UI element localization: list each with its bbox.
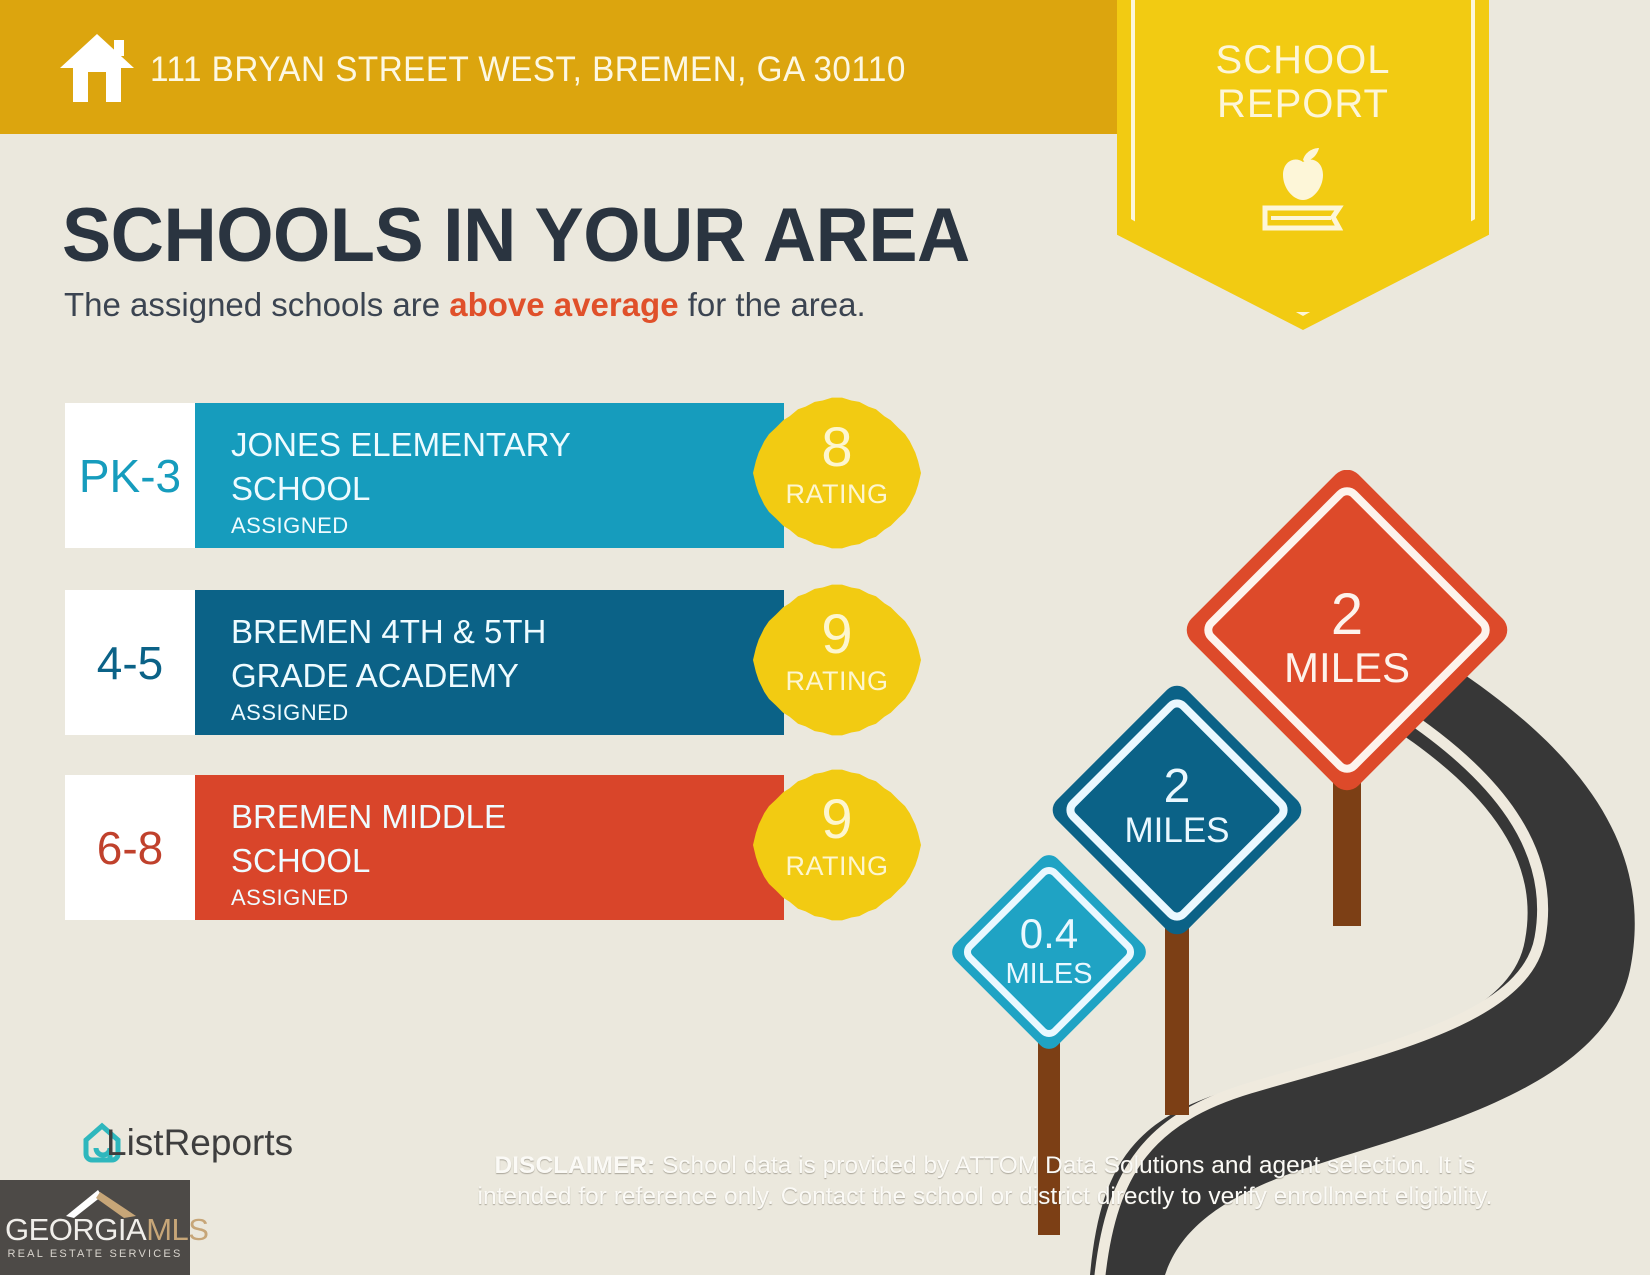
rating-badge: 9 RATING	[753, 755, 921, 935]
listreports-wordmark: ListReports	[106, 1122, 293, 1164]
assigned-status: ASSIGNED	[231, 700, 784, 726]
home-icon	[58, 32, 136, 104]
grade-range-label: 4-5	[97, 636, 163, 690]
sign-distance-unit: MILES	[1005, 958, 1092, 990]
rating-value: 8	[753, 419, 921, 475]
header-bar: 111 BRYAN STREET WEST, BREMEN, GA 30110	[0, 0, 1181, 134]
grade-range-label: PK-3	[79, 449, 181, 503]
school-report-badge: SCHOOL REPORT	[1117, 0, 1489, 330]
school-name-line-1: BREMEN 4TH & 5TH	[231, 610, 784, 654]
school-info-bar: BREMEN 4TH & 5TH GRADE ACADEMY ASSIGNED	[195, 590, 784, 735]
sign-distance-unit: MILES	[1284, 644, 1410, 691]
badge-line-2: REPORT	[1117, 82, 1489, 126]
school-info-bar: BREMEN MIDDLE SCHOOL ASSIGNED	[195, 775, 784, 920]
school-name-line-2: GRADE ACADEMY	[231, 654, 784, 698]
sign-distance-value: 2	[1331, 582, 1363, 647]
grade-range-box: 4-5	[65, 590, 195, 735]
page-title: SCHOOLS IN YOUR AREA	[62, 192, 970, 279]
rating-badge: 9 RATING	[753, 570, 921, 750]
property-address: 111 BRYAN STREET WEST, BREMEN, GA 30110	[150, 50, 906, 90]
georgia-mls-logo: GEORGIAMLS REAL ESTATE SERVICES	[0, 1180, 190, 1275]
page-subtitle: The assigned schools are above average f…	[64, 286, 866, 324]
school-name-line-1: BREMEN MIDDLE	[231, 795, 784, 839]
mls-tagline: REAL ESTATE SERVICES	[5, 1248, 185, 1260]
school-name-line-2: SCHOOL	[231, 839, 784, 883]
rating-label: RATING	[753, 479, 921, 510]
school-report-infographic: 111 BRYAN STREET WEST, BREMEN, GA 30110 …	[0, 0, 1650, 1275]
subtitle-before: The assigned schools are	[64, 286, 449, 323]
badge-line-1: SCHOOL	[1117, 38, 1489, 82]
grade-range-box: PK-3	[65, 403, 195, 548]
grade-range-box: 6-8	[65, 775, 195, 920]
mls-wordmark-georgia: GEORGIA	[5, 1212, 146, 1247]
grade-range-label: 6-8	[97, 821, 163, 875]
school-info-bar: JONES ELEMENTARY SCHOOL ASSIGNED	[195, 403, 784, 548]
disclaimer-label: DISCLAIMER:	[495, 1152, 656, 1179]
apple-on-book-icon	[1243, 142, 1363, 242]
rating-value: 9	[753, 606, 921, 662]
school-name-line-2: SCHOOL	[231, 467, 784, 511]
badge-label: SCHOOL REPORT	[1117, 38, 1489, 126]
rating-label: RATING	[753, 851, 921, 882]
school-name-line-1: JONES ELEMENTARY	[231, 423, 784, 467]
rating-badge: 8 RATING	[753, 383, 921, 563]
sign-distance-value: 2	[1164, 760, 1191, 813]
mls-wordmark-mls: MLS	[146, 1212, 208, 1247]
sign-distance-value: 0.4	[1020, 910, 1078, 957]
subtitle-after: for the area.	[679, 286, 866, 323]
sign-distance-unit: MILES	[1124, 811, 1229, 850]
subtitle-highlight: above average	[449, 286, 678, 323]
mls-wordmark: GEORGIAMLS	[5, 1212, 185, 1248]
rating-label: RATING	[753, 666, 921, 697]
disclaimer: DISCLAIMER: School data is provided by A…	[455, 1150, 1515, 1212]
assigned-status: ASSIGNED	[231, 513, 784, 539]
rating-value: 9	[753, 791, 921, 847]
sign-post	[1165, 915, 1189, 1115]
assigned-status: ASSIGNED	[231, 885, 784, 911]
